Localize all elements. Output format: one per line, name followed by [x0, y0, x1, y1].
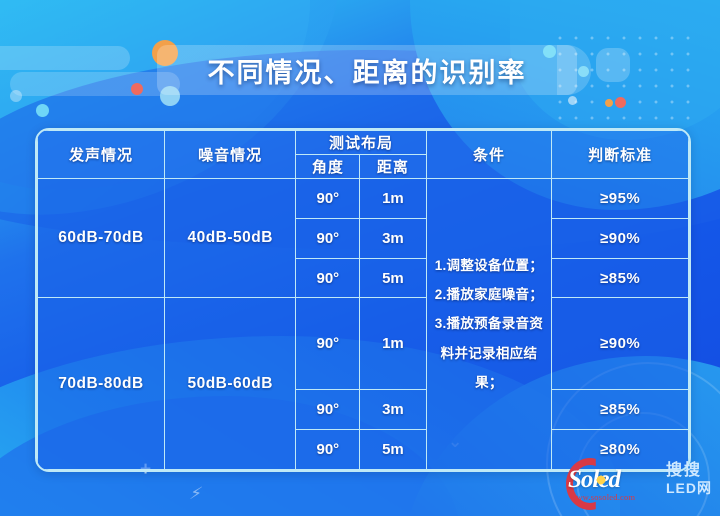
- watermark-cn-text: 搜搜 LED网: [666, 462, 712, 496]
- cell-angle-r2: 90°: [296, 218, 360, 258]
- title-banner: 不同情况、距离的识别率: [157, 45, 577, 95]
- column-header-criteria: 判断标准: [552, 131, 689, 179]
- cell-distance-r6: 5m: [360, 430, 426, 470]
- cell-angle-r3: 90°: [296, 258, 360, 298]
- cell-angle-r4: 90°: [296, 298, 360, 390]
- column-header-sound: 发声情况: [38, 131, 165, 179]
- pill-shape-left-upper: [0, 46, 130, 70]
- cell-criteria-r4: ≥90%: [552, 298, 689, 390]
- column-header-condition: 条件: [426, 131, 552, 179]
- cell-angle-r6: 90°: [296, 430, 360, 470]
- cell-distance-r4: 1m: [360, 298, 426, 390]
- cell-sound-group-1: 60dB-70dB: [38, 179, 165, 298]
- cell-criteria-r1: ≥95%: [552, 179, 689, 219]
- watermark: Soled www.sosoled.com 搜搜 LED网: [566, 452, 716, 506]
- cell-distance-r2: 3m: [360, 218, 426, 258]
- column-header-angle: 角度: [296, 155, 360, 179]
- watermark-logo: Soled www.sosoled.com: [566, 454, 662, 504]
- recognition-rate-table: 发声情况 噪音情况 测试布局 条件 判断标准 角度 距离 60dB-70dB 4…: [35, 128, 691, 472]
- watermark-cn-line1: 搜搜: [666, 462, 712, 480]
- cell-noise-group-1: 40dB-50dB: [164, 179, 296, 298]
- sun-icon: [593, 472, 609, 488]
- cell-angle-r1: 90°: [296, 179, 360, 219]
- circle-decor-cyan-lower-left: [36, 104, 49, 117]
- cell-sound-group-2: 70dB-80dB: [38, 298, 165, 470]
- cell-distance-r3: 5m: [360, 258, 426, 298]
- slide-canvas: + ⚡ ⌄ 不同情况、距离的识别率 发声情况 噪音情况 测试布局 条件: [0, 0, 720, 516]
- table-row: 70dB-80dB 50dB-60dB 90° 1m ≥90%: [38, 298, 689, 390]
- cell-criteria-r3: ≥85%: [552, 258, 689, 298]
- column-header-distance: 距离: [360, 155, 426, 179]
- cell-noise-group-2: 50dB-60dB: [164, 298, 296, 470]
- cell-distance-r1: 1m: [360, 179, 426, 219]
- cell-condition-merged: 1.调整设备位置；2.播放家庭噪音；3.播放预备录音资料并记录相应结果；: [426, 179, 552, 470]
- circle-decor-red-right: [615, 97, 626, 108]
- watermark-cn-line2: LED网: [666, 480, 712, 496]
- circle-decor-orange-right: [605, 99, 613, 107]
- column-header-noise: 噪音情况: [164, 131, 296, 179]
- page-title: 不同情况、距离的识别率: [157, 45, 577, 95]
- pill-shape-left-lower: [10, 72, 180, 96]
- cell-criteria-r5: ≥85%: [552, 390, 689, 430]
- circle-decor-red: [131, 83, 143, 95]
- circle-decor-white-right: [568, 96, 577, 105]
- column-header-layout: 测试布局: [296, 131, 426, 155]
- condition-text: 1.调整设备位置；2.播放家庭噪音；3.播放预备录音资料并记录相应结果；: [435, 251, 544, 396]
- cell-distance-r5: 3m: [360, 390, 426, 430]
- rounded-square-decor: [596, 48, 630, 82]
- circle-decor-blue-left: [10, 90, 22, 102]
- table-header-row-primary: 发声情况 噪音情况 测试布局 条件 判断标准: [38, 131, 689, 155]
- watermark-url: www.sosoled.com: [570, 492, 635, 502]
- cell-criteria-r2: ≥90%: [552, 218, 689, 258]
- table-row: 60dB-70dB 40dB-50dB 90° 1m 1.调整设备位置；2.播放…: [38, 179, 689, 219]
- cell-angle-r5: 90°: [296, 390, 360, 430]
